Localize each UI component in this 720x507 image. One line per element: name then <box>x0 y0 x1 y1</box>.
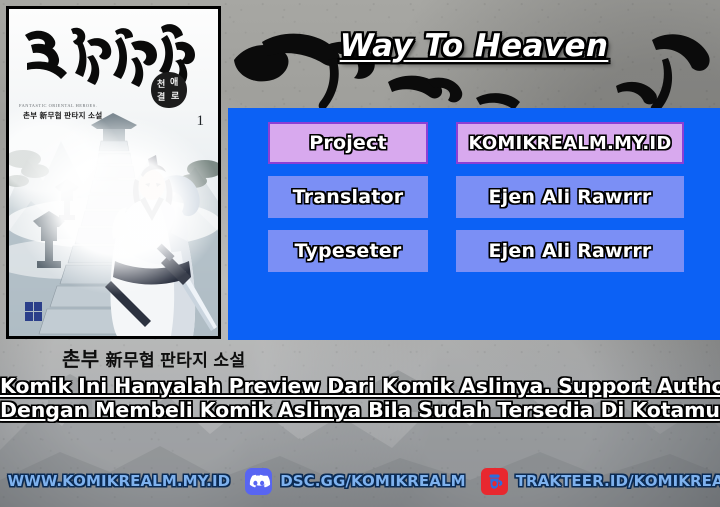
svg-text:천: 천 <box>157 79 165 90</box>
credit-value-project: KOMIKREALM.MY.ID <box>456 122 684 164</box>
credit-label-text: Typeseter <box>295 240 402 262</box>
credit-row: Project KOMIKREALM.MY.ID <box>268 122 704 164</box>
credit-label-text: Project <box>309 132 387 154</box>
credit-label-translator: Translator <box>268 176 428 218</box>
korean-subtitle-rest: 新무협 판타지 소설 <box>106 351 246 370</box>
website-link-label: WWW.KOMIKREALM.MY.ID <box>8 472 231 490</box>
website-link[interactable]: WWW WWW.KOMIKREALM.MY.ID <box>0 467 230 496</box>
credit-row: Typeseter Ejen Ali Rawrrr <box>268 230 704 272</box>
footer-links: WWW WWW.KOMIKREALM.MY.ID DSC.GG/KOMIKREA… <box>0 455 720 507</box>
trakteer-link[interactable]: TRAKTEER.ID/KOMIKREALM <box>480 467 720 496</box>
trakteer-link-label: TRAKTEER.ID/KOMIKREALM <box>516 472 720 490</box>
credit-label-typesetter: Typeseter <box>268 230 428 272</box>
globe-www-icon: WWW <box>0 467 1 496</box>
book-cover: 천애 결로 FANTASTIC ORIENTAL HEROES. 촌부 新무협 … <box>6 6 221 339</box>
discord-link-label: DSC.GG/KOMIKREALM <box>280 472 466 490</box>
credit-value-text: Ejen Ali Rawrrr <box>489 186 652 208</box>
cover-volume-number: 1 <box>197 113 205 130</box>
svg-text:로: 로 <box>171 91 180 102</box>
credits-page: 천애 결로 FANTASTIC ORIENTAL HEROES. 촌부 新무협 … <box>0 0 720 507</box>
cover-latin-tagline: FANTASTIC ORIENTAL HEROES. <box>19 103 97 108</box>
cover-korean-tagline: 촌부 新무협 판타지 소설 <box>23 110 102 121</box>
credits-panel: Project KOMIKREALM.MY.ID Translator Ejen… <box>228 108 720 340</box>
credit-value-typesetter: Ejen Ali Rawrrr <box>456 230 684 272</box>
page-title: Way To Heaven <box>228 28 720 64</box>
credit-value-text: KOMIKREALM.MY.ID <box>469 133 672 154</box>
discord-icon <box>244 467 273 496</box>
cover-seal: 천애 결로 <box>150 71 188 109</box>
korean-subtitle-bold: 촌부 <box>62 349 100 371</box>
preview-notice: Komik Ini Hanyalah Preview Dari Komik As… <box>0 374 720 422</box>
discord-link[interactable]: DSC.GG/KOMIKREALM <box>244 467 466 496</box>
svg-text:애: 애 <box>170 76 178 88</box>
trakteer-icon <box>480 467 509 496</box>
credit-label-text: Translator <box>293 186 404 208</box>
korean-subtitle: 촌부 新무협 판타지 소설 <box>62 343 246 372</box>
credit-row: Translator Ejen Ali Rawrrr <box>268 176 704 218</box>
credit-value-translator: Ejen Ali Rawrrr <box>456 176 684 218</box>
credit-value-text: Ejen Ali Rawrrr <box>489 240 652 262</box>
credit-label-project: Project <box>268 122 428 164</box>
cover-publisher-stamp <box>23 300 45 326</box>
notice-line-1: Komik Ini Hanyalah Preview Dari Komik As… <box>0 374 720 398</box>
svg-text:결: 결 <box>157 91 165 103</box>
notice-line-2: Dengan Membeli Komik Aslinya Bila Sudah … <box>0 398 720 422</box>
